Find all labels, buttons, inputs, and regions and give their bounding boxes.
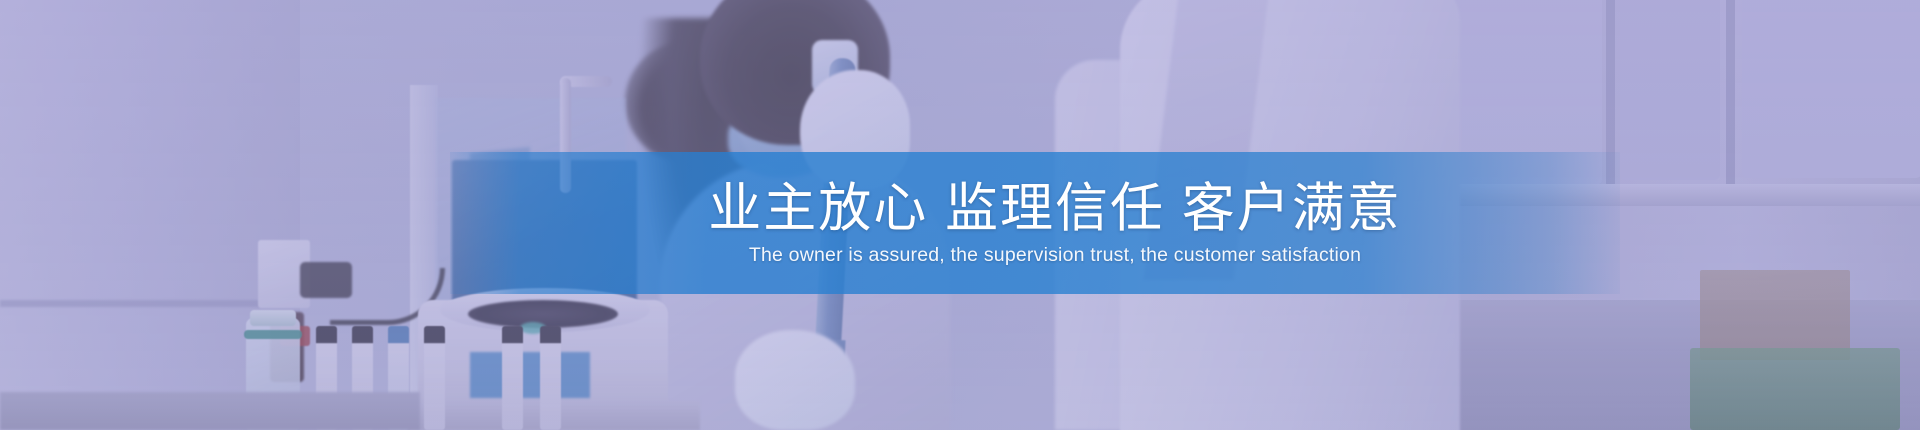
hero-banner: 业主放心 监理信任 客户满意 The owner is assured, the… <box>0 0 1920 430</box>
slogan-subheadline: The owner is assured, the supervision tr… <box>749 244 1361 267</box>
slogan-block: 业主放心 监理信任 客户满意 The owner is assured, the… <box>450 152 1620 294</box>
slogan-headline: 业主放心 监理信任 客户满意 <box>708 179 1401 238</box>
